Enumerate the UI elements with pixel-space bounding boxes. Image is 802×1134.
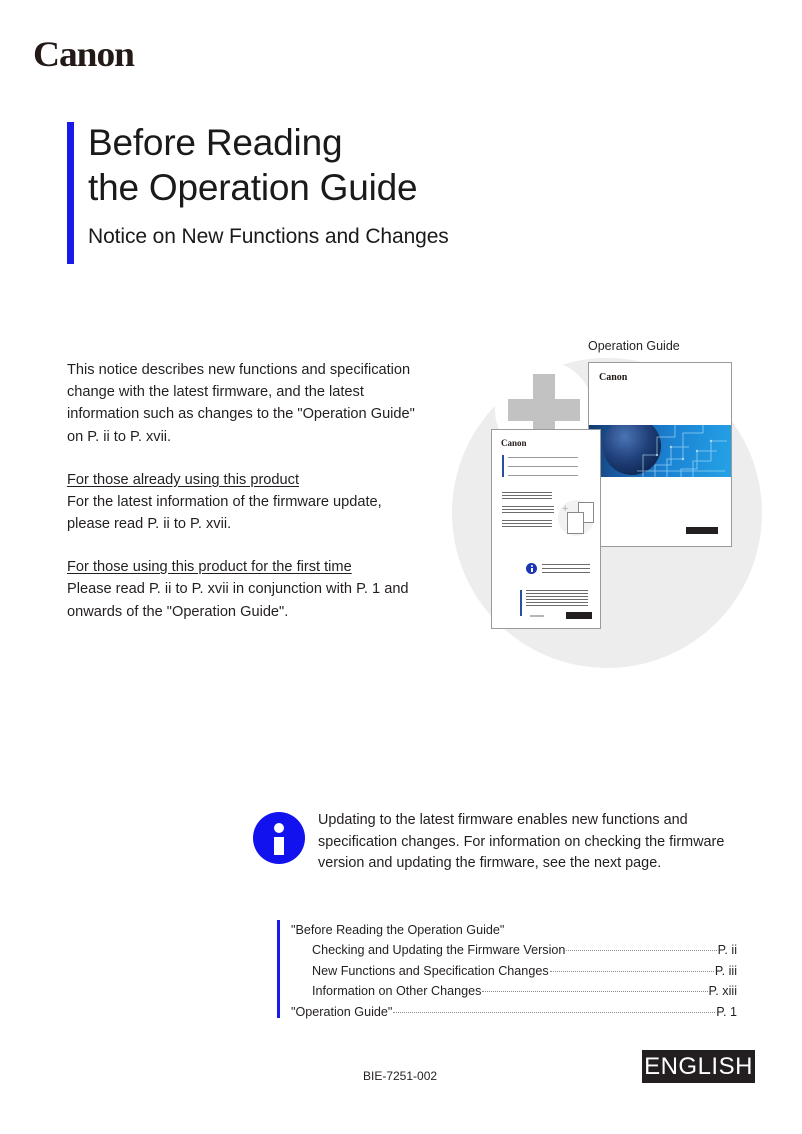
- intro-text-block: This notice describes new functions and …: [67, 359, 427, 623]
- section-heading-first-time-users: For those using this product for the fir…: [67, 556, 427, 578]
- sheet-text-group: [502, 520, 552, 529]
- toc-list: "Before Reading the Operation Guide" Che…: [291, 920, 737, 1022]
- sheet-blue-rule: [520, 590, 522, 616]
- toc-row[interactable]: "Operation Guide" P. 1: [291, 1002, 737, 1022]
- sheet-title-line: [508, 475, 578, 476]
- toc-page: P. xiii: [709, 981, 737, 1001]
- toc-accent-rule: [277, 920, 280, 1018]
- toc-page: P. 1: [716, 1002, 737, 1022]
- info-icon: [253, 812, 305, 864]
- notice-sheet: Canon +: [491, 429, 601, 629]
- cover-art-band: [589, 425, 731, 477]
- title-text-group: Before Reading the Operation Guide Notic…: [88, 120, 667, 249]
- toc-page: P. ii: [718, 940, 737, 960]
- canon-logo: Canon: [33, 36, 134, 72]
- toc-row[interactable]: Information on Other Changes P. xiii: [291, 981, 737, 1001]
- toc-row[interactable]: "Before Reading the Operation Guide": [291, 920, 737, 940]
- info-callout-text: Updating to the latest firmware enables …: [318, 810, 753, 875]
- sheet-canon-logo: Canon: [501, 438, 527, 448]
- sheet-accent-bar: [502, 455, 504, 477]
- toc-label: "Before Reading the Operation Guide": [291, 920, 504, 940]
- title-block: Before Reading the Operation Guide Notic…: [67, 120, 667, 249]
- page-title-line1: Before Reading: [88, 120, 667, 165]
- sheet-bottom-group: [526, 590, 588, 608]
- info-icon-stem: [274, 837, 284, 855]
- page-title-line2: the Operation Guide: [88, 165, 667, 210]
- illustration-group: Operation Guide Canon: [452, 333, 772, 648]
- spacer: [67, 448, 427, 469]
- sheet-dash: [530, 615, 544, 617]
- sheet-note-line: [542, 564, 590, 565]
- toc-leader: [482, 991, 707, 992]
- toc-row[interactable]: New Functions and Specification Changes …: [291, 961, 737, 981]
- sheet-title-line: [508, 466, 578, 467]
- toc-row[interactable]: Checking and Updating the Firmware Versi…: [291, 940, 737, 960]
- info-callout: Updating to the latest firmware enables …: [253, 810, 753, 875]
- sheet-text-group: [502, 492, 552, 501]
- page-rect-front: [567, 512, 584, 534]
- section-body-existing-users: For the latest information of the firmwa…: [67, 491, 427, 535]
- toc-label: New Functions and Specification Changes: [312, 961, 549, 981]
- sheet-note-line: [542, 572, 590, 573]
- section-heading-existing-users: For those already using this product: [67, 469, 427, 491]
- spacer: [67, 535, 427, 556]
- sheet-black-bar: [566, 612, 592, 619]
- sheet-info-icon: [526, 563, 537, 574]
- cover-black-bar: [686, 527, 718, 534]
- toc-leader: [550, 971, 714, 972]
- cover-canon-logo: Canon: [599, 372, 627, 383]
- title-accent-bar: [67, 122, 74, 264]
- sheet-text-group: [502, 506, 554, 515]
- toc-leader: [393, 1012, 715, 1013]
- sheet-title-line: [508, 457, 578, 458]
- part-number: BIE-7251-002: [363, 1069, 437, 1083]
- language-badge: ENGLISH: [642, 1050, 755, 1083]
- toc-label: Information on Other Changes: [312, 981, 481, 1001]
- page-subtitle: Notice on New Functions and Changes: [88, 225, 667, 249]
- circuit-traces-icon: [637, 425, 729, 477]
- toc-page: P. iii: [715, 961, 737, 981]
- section-body-first-time-users: Please read P. ii to P. xvii in conjunct…: [67, 578, 427, 622]
- info-icon-dot: [274, 823, 284, 833]
- toc-label: "Operation Guide": [291, 1002, 392, 1022]
- toc-leader: [566, 950, 716, 951]
- toc-label: Checking and Updating the Firmware Versi…: [312, 940, 565, 960]
- sheet-note-line: [542, 568, 590, 569]
- page-title: Before Reading the Operation Guide: [88, 120, 667, 210]
- intro-paragraph: This notice describes new functions and …: [67, 359, 427, 448]
- operation-guide-label: Operation Guide: [588, 339, 680, 353]
- operation-guide-cover: Canon: [588, 362, 732, 547]
- table-of-contents: "Before Reading the Operation Guide" Che…: [277, 920, 737, 1022]
